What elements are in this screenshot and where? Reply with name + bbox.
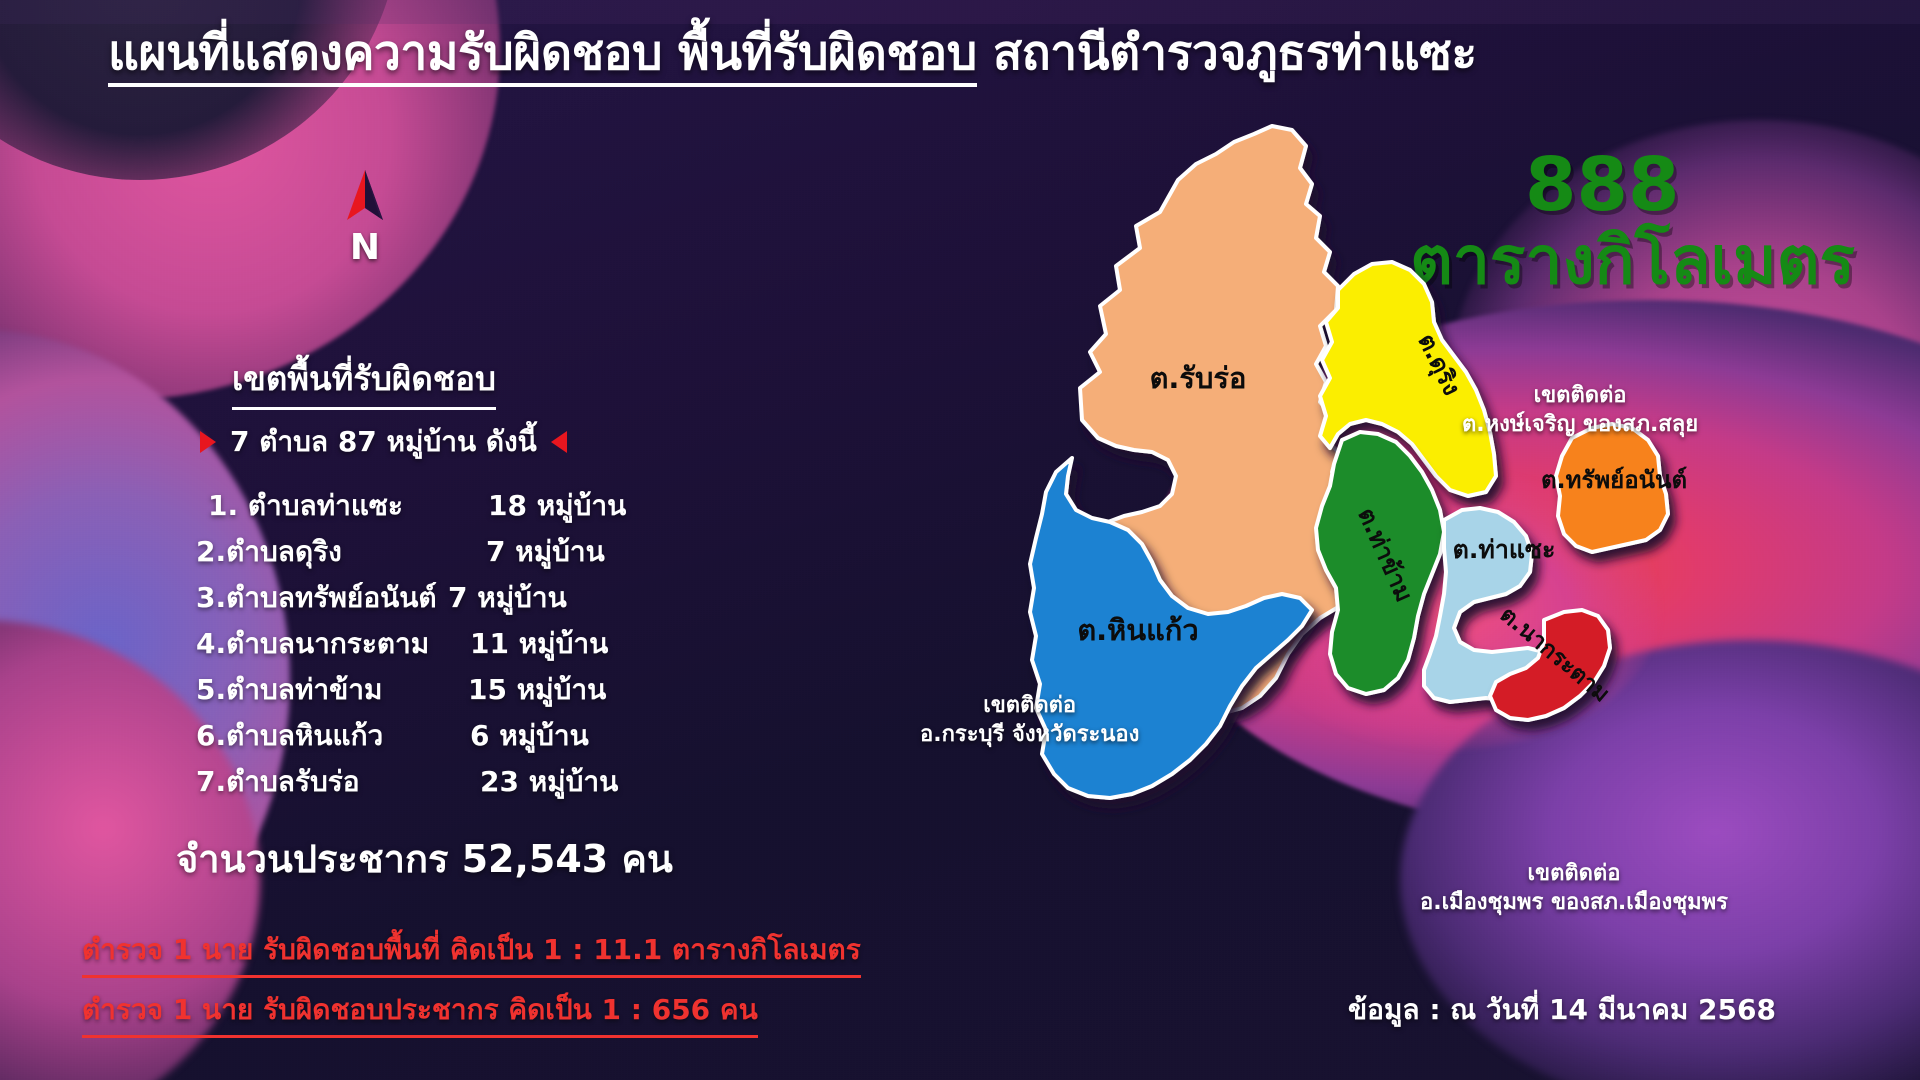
boundary-note-west: เขตติดต่อ อ.กระบุรี จังหวัดระนอง [920, 692, 1139, 749]
list-item: 3.ตำบลทรัพย์อนันต์ 7 หมู่บ้าน [196, 584, 636, 612]
ratio-population-line: ตำรวจ 1 นาย รับผิดชอบประชากร คิดเป็น 1 :… [82, 988, 758, 1038]
ratio-area-line: ตำรวจ 1 นาย รับผิดชอบพื้นที่ คิดเป็น 1 :… [82, 928, 861, 978]
tambon-list: 1. ตำบลท่าแซะ 18 หมู่บ้าน 2.ตำบลดุริง 7 … [196, 492, 636, 814]
region-label-thasae: ต.ท่าแซะ [1453, 535, 1556, 564]
tambon-village-count: 7 หมู่บ้าน [464, 538, 605, 566]
section-heading: เขตพื้นที่รับผิดชอบ [232, 352, 496, 410]
tambon-village-count: 18 หมู่บ้าน [476, 492, 626, 520]
tambon-name: 1. ตำบลท่าแซะ [196, 492, 476, 520]
boundary-note-south: เขตติดต่อ อ.เมืองชุมพร ของสภ.เมืองชุมพร [1420, 860, 1728, 917]
region-label-sapanan: ต.ทรัพย์อนันต์ [1541, 466, 1687, 494]
tambon-name: 6.ตำบลหินแก้ว [196, 722, 464, 750]
page-title-main: แผนที่แสดงความรับผิดชอบ พื้นที่รับผิดชอบ [108, 25, 977, 87]
list-item: 4.ตำบลนากระตาม 11 หมู่บ้าน [196, 630, 636, 658]
boundary-note-south-line1: เขตติดต่อ [1420, 860, 1728, 889]
tambon-name: 3.ตำบลทรัพย์อนันต์ [196, 584, 448, 612]
tambon-name: 7.ตำบลรับร่อ [196, 768, 464, 796]
boundary-note-north-line1: เขตติดต่อ [1462, 382, 1698, 411]
tambon-village-count: 23 หมู่บ้าน [464, 768, 618, 796]
compass-north-label: N [330, 230, 400, 266]
page-title: แผนที่แสดงความรับผิดชอบ พื้นที่รับผิดชอบ… [108, 26, 1468, 81]
list-item: 1. ตำบลท่าแซะ 18 หมู่บ้าน [196, 492, 636, 520]
region-label-rapro: ต.รับร่อ [1150, 361, 1247, 395]
boundary-note-south-line2: อ.เมืองชุมพร ของสภ.เมืองชุมพร [1420, 889, 1728, 918]
top-edge-band [0, 0, 1920, 24]
boundary-note-west-line1: เขตติดต่อ [920, 692, 1139, 721]
boundary-note-north: เขตติดต่อ ต.หงษ์เจริญ ของสภ.สลุย [1462, 382, 1698, 439]
arrow-left-icon [551, 431, 567, 453]
tambon-name: 5.ตำบลท่าข้าม [196, 676, 464, 704]
tambon-name: 4.ตำบลนากระตาม [196, 630, 464, 658]
tambon-village-count: 6 หมู่บ้าน [464, 722, 589, 750]
north-arrow-icon [343, 168, 387, 226]
boundary-note-west-line2: อ.กระบุรี จังหวัดระนอง [920, 721, 1139, 750]
region-label-hinkaew: ต.หินแก้ว [1077, 613, 1198, 647]
tambon-village-count: 7 หมู่บ้าน [448, 584, 567, 612]
list-item: 7.ตำบลรับร่อ 23 หมู่บ้าน [196, 768, 636, 796]
tambon-name: 2.ตำบลดุริง [196, 538, 464, 566]
list-item: 6.ตำบลหินแก้ว 6 หมู่บ้าน [196, 722, 636, 750]
infographic-root: แผนที่แสดงความรับผิดชอบ พื้นที่รับผิดชอบ… [0, 0, 1920, 1080]
boundary-note-north-line2: ต.หงษ์เจริญ ของสภ.สลุย [1462, 411, 1698, 440]
summary-text: 7 ตำบล 87 หมู่บ้าน ดังนี้ [230, 420, 537, 464]
tambon-village-count: 11 หมู่บ้าน [464, 630, 608, 658]
arrow-right-icon [200, 431, 216, 453]
list-item: 2.ตำบลดุริง 7 หมู่บ้าน [196, 538, 636, 566]
page-title-station: สถานีตำรวจภูธรท่าแซะ [977, 25, 1477, 83]
list-item: 5.ตำบลท่าข้าม 15 หมู่บ้าน [196, 676, 636, 704]
summary-line: 7 ตำบล 87 หมู่บ้าน ดังนี้ [200, 420, 620, 464]
tambon-village-count: 15 หมู่บ้าน [464, 676, 606, 704]
compass: N [330, 168, 400, 266]
data-date-stamp: ข้อมูล : ณ วันที่ 14 มีนาคม 2568 [1348, 988, 1776, 1032]
population-total: จำนวนประชากร 52,543 คน [176, 828, 673, 889]
